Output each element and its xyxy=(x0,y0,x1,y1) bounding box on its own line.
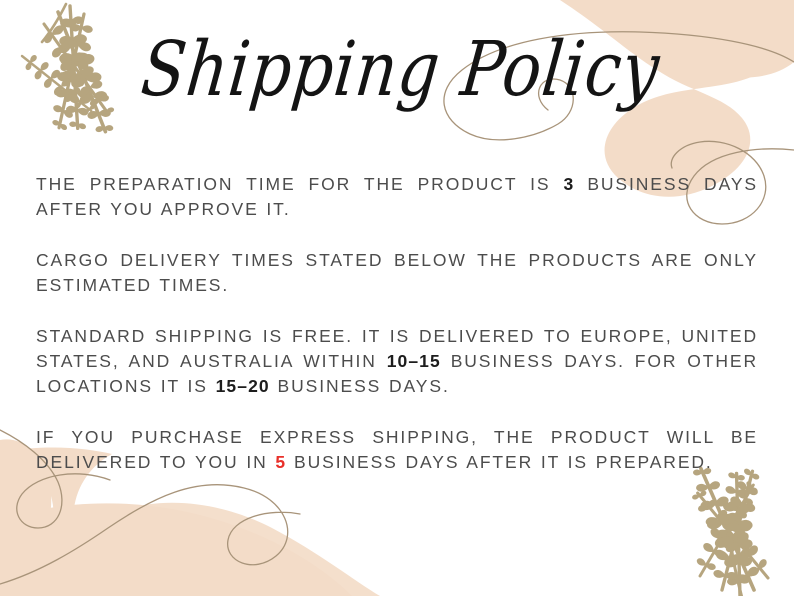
policy-body: THE PREPARATION TIME FOR THE PRODUCT IS … xyxy=(36,172,758,475)
text-segment: BUSINESS DAYS AFTER IT IS PREPARED. xyxy=(286,452,712,472)
paragraph-cargo-estimate: CARGO DELIVERY TIMES STATED BELOW THE PR… xyxy=(36,248,758,298)
text-segment: CARGO DELIVERY TIMES STATED BELOW THE PR… xyxy=(36,250,758,295)
shipping-policy-card: Shipping Policy THE PREPARATION TIME FOR… xyxy=(0,0,794,596)
text-segment: BUSINESS DAYS. xyxy=(270,376,450,396)
botanical-sprig-bottom-right xyxy=(684,460,776,596)
paragraph-express-shipping: IF YOU PURCHASE EXPRESS SHIPPING, THE PR… xyxy=(36,425,758,475)
paragraph-standard-shipping: STANDARD SHIPPING IS FREE. IT IS DELIVER… xyxy=(36,324,758,399)
page-title: Shipping Policy xyxy=(138,32,663,108)
highlight-standard-days: 10–15 xyxy=(387,351,441,371)
highlight-preparation-days: 3 xyxy=(563,174,574,194)
highlight-other-locations-days: 15–20 xyxy=(216,376,270,396)
title-container: Shipping Policy xyxy=(0,44,794,108)
paragraph-preparation-time: THE PREPARATION TIME FOR THE PRODUCT IS … xyxy=(36,172,758,222)
text-segment: THE PREPARATION TIME FOR THE PRODUCT IS xyxy=(36,174,563,194)
highlight-express-days: 5 xyxy=(275,452,286,472)
